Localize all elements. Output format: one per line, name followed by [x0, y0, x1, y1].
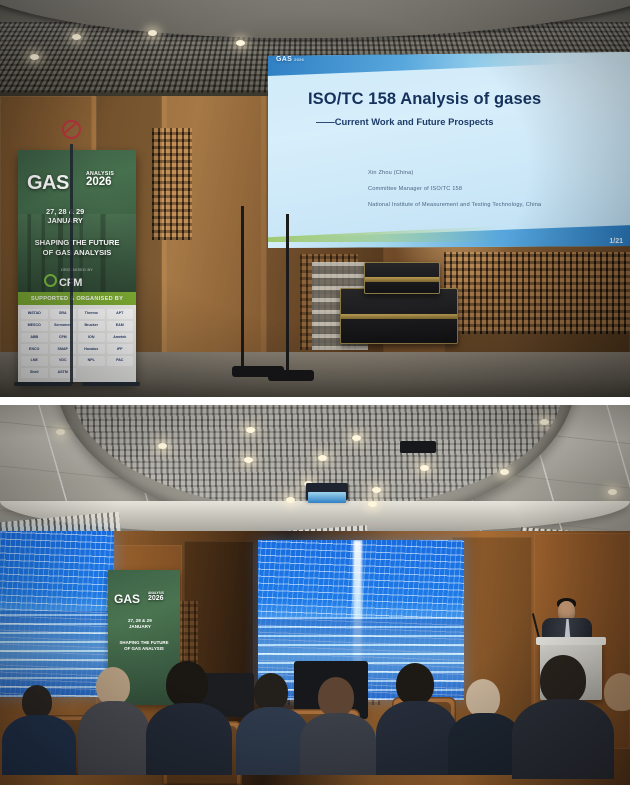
perforated-panel — [444, 252, 630, 334]
sponsor-logo: Ametek — [107, 333, 134, 343]
ceiling-downlight — [244, 457, 253, 463]
audience-head — [96, 667, 130, 705]
audience-head — [22, 685, 52, 719]
mic-stand-base — [268, 370, 314, 381]
sponsor-logo: INSTAD — [21, 309, 48, 319]
ceiling-downlight — [500, 469, 509, 475]
banner-pole — [70, 144, 73, 384]
audience-head — [166, 661, 208, 707]
flight-case — [340, 288, 458, 344]
banner-sponsor-grid: INSTAD SRA Thermo APT MESCO Servomex Bru… — [18, 305, 136, 382]
perforated-panel — [152, 128, 192, 240]
sponsor-logo: MESCO — [21, 321, 48, 331]
audience-shoulders — [78, 701, 150, 775]
banner-dates: 27, 28 & 29 JANUARY — [128, 618, 152, 629]
banner-year-text: 2026 — [86, 176, 112, 188]
banner-year: ANALYSIS 2026 — [86, 172, 114, 189]
flight-case — [364, 262, 440, 294]
slide-title: ISO/TC 158 Analysis of gases — [308, 90, 541, 109]
sponsor-logo: Shell — [21, 368, 48, 378]
slide-footer-accent — [268, 226, 500, 242]
audience-head — [396, 663, 434, 705]
banner-tagline: SHAPING THE FUTURE OF GAS ANALYSIS — [26, 238, 128, 258]
mic-stand — [286, 214, 289, 370]
projection-screen: GAS2026 ISO/TC 158 Analysis of gases ——C… — [268, 52, 630, 248]
ceiling-downlight — [286, 497, 295, 503]
audience-shoulders — [146, 703, 232, 775]
sponsor-logo: Hovalux — [78, 344, 105, 354]
ceiling-downlight — [540, 419, 549, 425]
slide-header-band — [268, 52, 630, 76]
sponsor-logo: Thermo — [78, 309, 105, 319]
seated-audience — [0, 657, 630, 785]
slide-role: Committee Manager of ISO/TC 158 — [368, 186, 462, 192]
banner-supported-label: SUPPORTED & ORGANISED BY — [18, 292, 136, 305]
ceiling-speaker-box — [400, 441, 436, 453]
sponsor-logo: APT — [107, 309, 134, 319]
audience-head — [318, 677, 354, 717]
sponsor-logo: LNE — [21, 356, 48, 366]
slide-page-indicator: 1/21 — [609, 238, 623, 245]
slide-logo-text: GAS — [276, 56, 292, 63]
slide-subtitle: ——Current Work and Future Prospects — [316, 116, 493, 127]
banner-organiser: CFM — [44, 274, 82, 289]
ceiling-downlight — [56, 429, 65, 435]
conference-stage-photo: GAS2026 ISO/TC 158 Analysis of gases ——C… — [0, 0, 630, 397]
banner-organiser-label: ORGANISED BY — [26, 268, 128, 272]
slide-presenter: Xin Zhou (China) — [368, 170, 413, 176]
ceiling-downlight — [158, 443, 167, 449]
ceiling-downlight — [236, 40, 245, 46]
ceiling-downlight — [148, 30, 157, 36]
banner-tagline: SHAPING THE FUTURE OF GAS ANALYSIS — [112, 640, 176, 651]
slide-corner-logo: GAS2026 — [276, 56, 304, 63]
ceiling-downlight — [30, 54, 39, 60]
sponsor-logo: EAM — [107, 321, 134, 331]
sponsor-logo: IFP — [107, 344, 134, 354]
photo-collage: GAS2026 ISO/TC 158 Analysis of gases ——C… — [0, 0, 630, 785]
audience-shoulders — [376, 701, 458, 775]
gas-2026-rollup-banner: GAS ANALYSIS 2026 27, 28 & 29 JANUARY SH… — [18, 150, 136, 382]
audience-shoulders — [448, 713, 522, 775]
cfm-mark-icon — [44, 274, 57, 287]
slide-affiliation: National Institute of Measurement and Te… — [368, 202, 541, 208]
ceiling-downlight — [368, 501, 377, 507]
banner-event-name: GAS — [27, 172, 69, 195]
ceiling-downlight — [372, 487, 381, 493]
auditorium-audience-photo: GAS ANALYSIS 2026 27, 28 & 29 JANUARY SH… — [0, 405, 630, 785]
audience-shoulders — [236, 707, 310, 775]
ceiling-downlight — [246, 427, 255, 433]
audience-shoulders — [512, 699, 614, 779]
sponsor-logo: ENCO — [21, 344, 48, 354]
ceiling-downlight — [608, 489, 617, 495]
ceiling-downlight — [318, 455, 327, 461]
ceiling-projector — [306, 483, 348, 500]
audience-shoulders — [2, 715, 76, 775]
audience-head — [466, 679, 500, 717]
ceiling-downlight — [352, 435, 361, 441]
ceiling-downlight — [420, 465, 429, 471]
banner-event-name: GAS — [114, 592, 140, 606]
ceiling-downlight — [72, 34, 81, 40]
sponsor-logo: PAC — [107, 356, 134, 366]
slide-logo-year: 2026 — [294, 57, 304, 62]
sponsor-logo: ION — [78, 333, 105, 343]
audience-shoulders — [300, 713, 376, 775]
audience-head — [540, 655, 586, 705]
photo-divider — [0, 397, 630, 405]
banner-base-feet — [14, 382, 140, 389]
sponsor-logo: NPL — [78, 356, 105, 366]
banner-dates: 27, 28 & 29 JANUARY — [46, 208, 84, 225]
audience-head — [254, 673, 288, 711]
banner-year: ANALYSIS 2026 — [148, 592, 164, 602]
sponsor-logo: Brucker — [78, 321, 105, 331]
sponsor-logo: ABB — [21, 333, 48, 343]
mic-stand — [241, 206, 244, 370]
audience-head — [604, 673, 630, 711]
banner-year-text: 2026 — [148, 595, 164, 602]
no-smoking-icon — [62, 120, 81, 139]
